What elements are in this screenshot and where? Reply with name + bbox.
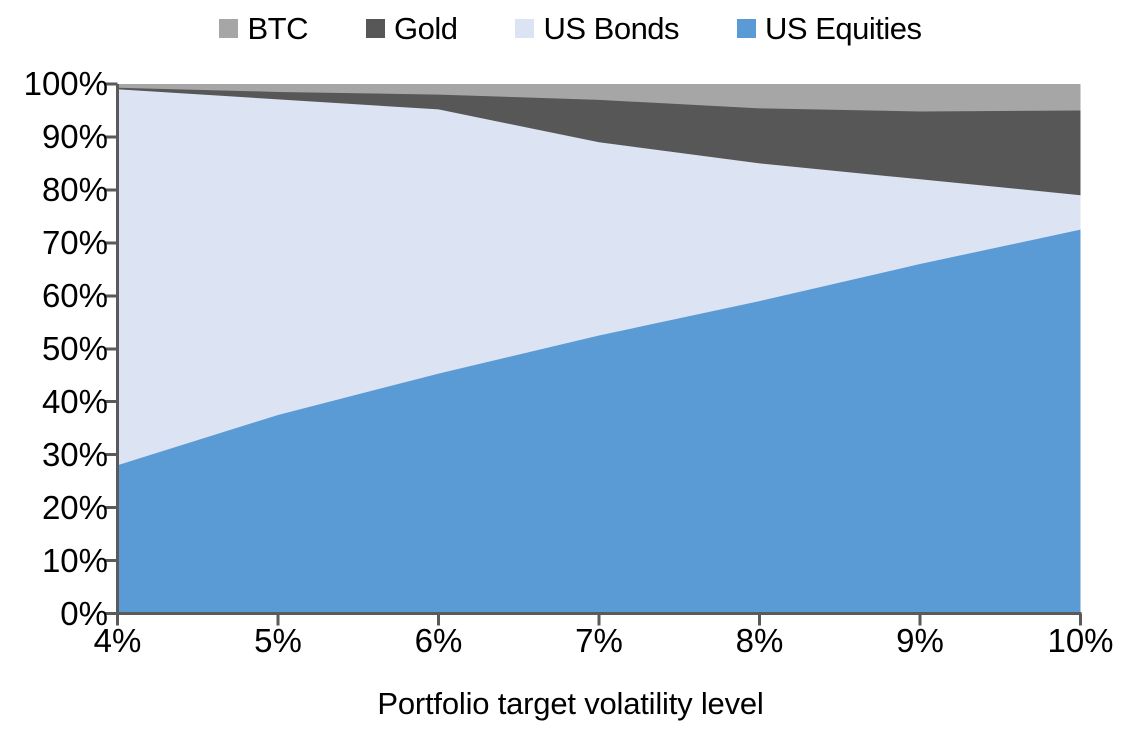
y-tick-label: 60% <box>4 279 108 312</box>
y-tick-label: 30% <box>4 438 108 471</box>
x-tick-label: 8% <box>736 624 784 657</box>
x-tick-label: 7% <box>575 624 623 657</box>
x-tick-label: 5% <box>254 624 302 657</box>
y-tick-label: 70% <box>4 226 108 259</box>
y-tick-label: 50% <box>4 332 108 365</box>
x-tick-label: 9% <box>896 624 944 657</box>
y-tick-label: 40% <box>4 385 108 418</box>
y-tick-label: 100% <box>4 67 108 100</box>
y-tick-label: 20% <box>4 491 108 524</box>
stacked-area-chart: BTC Gold US Bonds US Equities 0%10%20%30… <box>0 0 1141 742</box>
area-series-group <box>118 84 1081 614</box>
x-axis-tick-labels: 4%5%6%7%8%9%10% <box>0 624 1141 674</box>
x-tick-label: 10% <box>1047 624 1113 657</box>
y-tick-label: 10% <box>4 544 108 577</box>
x-tick-label: 4% <box>94 624 142 657</box>
x-axis-title: Portfolio target volatility level <box>0 688 1141 719</box>
x-tick-label: 6% <box>415 624 463 657</box>
y-tick-label: 80% <box>4 173 108 206</box>
y-tick-label: 90% <box>4 120 108 153</box>
